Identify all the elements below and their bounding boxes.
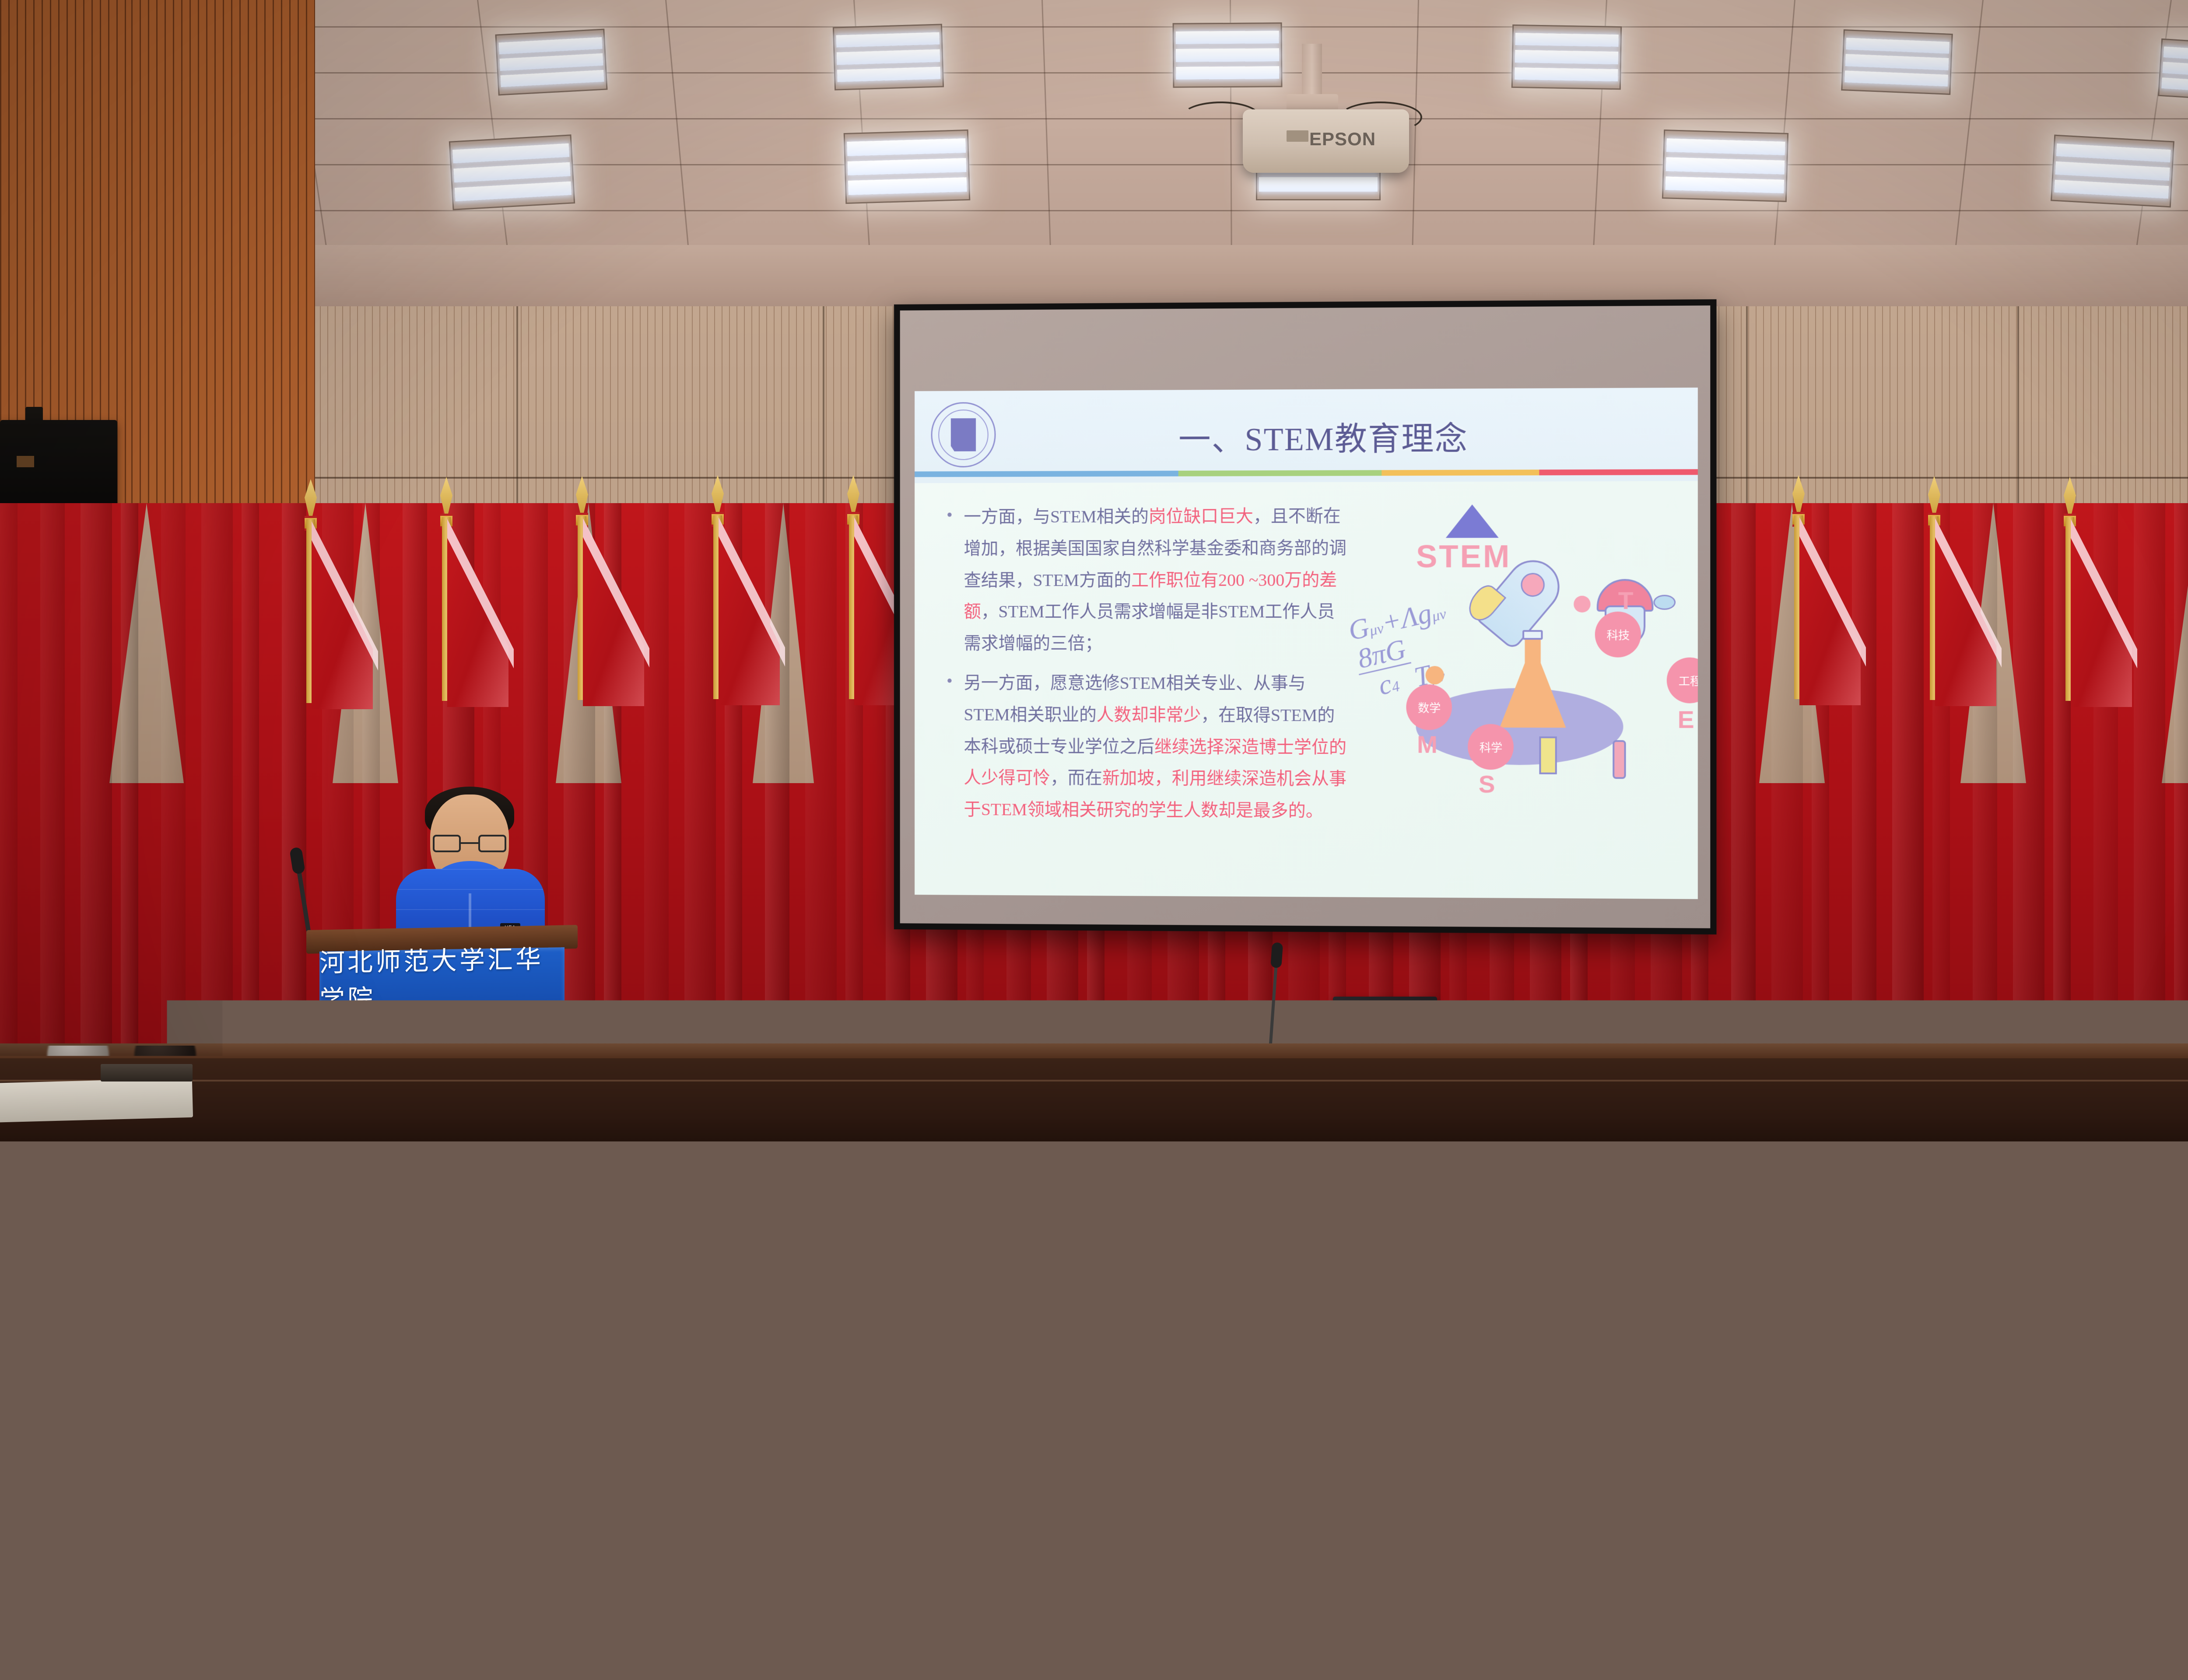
screen-surface: 一、STEM教育理念 一方面，与STEM相关的岗位缺口巨大，且不断在增加，根据美… <box>900 305 1711 928</box>
pillar-label-science: 科学 <box>1480 738 1502 755</box>
bullet-text: ，STEM工作人员需求增幅是非STEM工作人员需求增幅的三倍； <box>964 602 1335 653</box>
audience-member <box>1627 1090 1696 1162</box>
slide-bullet: 另一方面，愿意选修STEM相关专业、从事与STEM相关职业的人数却非常少，在取得… <box>940 667 1350 827</box>
stem-illustration: STEM Gμν+Λgμν 8πGc4Tμν 科技 <box>1350 481 1697 899</box>
ceiling <box>0 0 2188 271</box>
audience-member <box>1281 1487 1397 1609</box>
pillar-letter-engineering: E <box>1678 705 1694 734</box>
ceremonial-flag <box>442 477 521 713</box>
slide-bullet-list: 一方面，与STEM相关的岗位缺口巨大，且不断在增加，根据美国国家自然科学基金委和… <box>915 482 1350 897</box>
audience-member <box>981 1361 1081 1466</box>
audience-member <box>798 1046 860 1088</box>
audience-member <box>1874 1361 1974 1466</box>
pillar-letter-science: S <box>1479 770 1495 798</box>
audience-member <box>490 1255 577 1347</box>
pillar-label-engineering: 工程 <box>1679 672 1698 688</box>
curtain-fold <box>1892 503 1924 1085</box>
audience-member <box>691 1090 759 1162</box>
audience-member <box>1133 1361 1232 1466</box>
ceremonial-flag <box>713 475 792 711</box>
flask-neck <box>1522 630 1543 640</box>
audience-member <box>622 1255 709 1347</box>
pillar-label-tech: 科技 <box>1606 626 1630 643</box>
audience-member <box>762 1487 878 1609</box>
audience-member <box>1830 1046 1892 1088</box>
audience-member <box>224 1255 311 1347</box>
podium-name-chinese: 河北师范大学汇华学院 <box>319 938 565 1016</box>
ceremonial-flag <box>1930 476 2009 712</box>
audience-member <box>1931 1255 2018 1347</box>
glasses-icon <box>433 835 506 852</box>
audience-member <box>40 1166 117 1247</box>
auditorium-seat[interactable] <box>360 1436 498 1587</box>
ceiling-grid-line <box>0 164 2188 165</box>
ceiling-light-panel <box>495 28 607 95</box>
curtain-fold <box>2013 503 2044 1085</box>
podium-nameplate: 河北师范大学汇华学院 HUIHUA COLLEGE OF HEBEI NORMA… <box>319 947 565 1035</box>
rule-segment <box>915 471 1178 477</box>
audience-member <box>628 1166 705 1247</box>
pillar-circle-science: 科学 <box>1468 724 1514 770</box>
decorative-dot <box>1654 595 1676 610</box>
ceiling-light-panel <box>844 129 971 204</box>
ceremonial-flag <box>578 476 656 712</box>
slide-bullet: 一方面，与STEM相关的岗位缺口巨大，且不断在增加，根据美国国家自然科学基金委和… <box>940 500 1350 660</box>
stem-triangle-icon <box>1446 504 1499 538</box>
audience-member <box>1735 1090 1803 1162</box>
ceiling-light-panel <box>833 24 944 90</box>
bullet-text: 一方面，与STEM相关的 <box>964 507 1148 527</box>
flag-spear-tip <box>2064 477 2076 517</box>
ceiling-light-panel <box>1841 29 1953 95</box>
pillar-circle-engineering: 工程 <box>1667 658 1698 703</box>
audience-member <box>1323 1090 1392 1162</box>
curtain-fold <box>1731 503 1756 1085</box>
ceiling-light-panel <box>2051 135 2174 208</box>
audience-member <box>587 1090 656 1162</box>
projection-screen: 一、STEM教育理念 一方面，与STEM相关的岗位缺口巨大，且不断在增加，根据美… <box>894 299 1717 934</box>
audience-member <box>796 1090 865 1162</box>
ceiling-grid-line <box>0 210 2188 211</box>
ceiling-grid-line <box>665 0 691 270</box>
bullet-highlight: 岗位缺口巨大 <box>1149 506 1253 526</box>
speaker-bracket <box>25 407 43 422</box>
audience-member <box>416 1046 477 1088</box>
audience-member <box>2014 1166 2091 1247</box>
audience-area <box>0 1046 2188 1680</box>
hammer-icon <box>1539 736 1557 774</box>
audience-member <box>1544 1046 1606 1088</box>
audience-member <box>1211 1090 1280 1162</box>
ceiling-grid-line <box>1953 0 1984 269</box>
flag-spear-tip <box>576 476 588 516</box>
bullet-highlight: 人数却非常少 <box>1097 705 1201 724</box>
audience-member <box>1142 1255 1229 1347</box>
slide-color-rule <box>915 469 1698 477</box>
bullet-text: ，而在 <box>1050 768 1102 788</box>
laptop-brand-label: lenovo <box>1343 1009 1367 1018</box>
audience-member <box>2144 1487 2188 1609</box>
einstein-field-equation: Gμν+Λgμν 8πGc4Tμν <box>1346 595 1462 704</box>
flag-spear-tip <box>440 477 452 517</box>
ceiling-grid-line <box>0 118 2188 119</box>
audience-member <box>1412 1255 1499 1347</box>
curtain-fold <box>805 503 837 1085</box>
rule-segment <box>1382 469 1539 476</box>
audience-member <box>1424 1090 1493 1162</box>
audience-member <box>1114 1090 1183 1162</box>
slide-body: 一方面，与STEM相关的岗位缺口巨大，且不断在增加，根据美国国家自然科学基金委和… <box>915 481 1698 899</box>
curtain-fold <box>2174 503 2188 1085</box>
rule-segment <box>1178 470 1382 476</box>
audience-member <box>680 1361 779 1466</box>
curtain-fold <box>684 503 716 1085</box>
projector-brand-label: EPSON <box>1309 129 1376 150</box>
audience-member <box>879 1255 966 1347</box>
audience-member <box>235 1361 335 1466</box>
audience-member <box>70 1090 139 1162</box>
ceremonial-flag <box>1794 475 1873 711</box>
ceiling-grid-line <box>1041 0 1052 271</box>
presentation-slide: 一、STEM教育理念 一方面，与STEM相关的岗位缺口巨大，且不断在增加，根据美… <box>915 388 1698 899</box>
ceiling-light-panel <box>1173 22 1283 88</box>
flag-spear-tip <box>1792 475 1805 515</box>
audience-member <box>2021 1361 2121 1466</box>
audience-member <box>488 1090 557 1162</box>
audience-member <box>1020 1255 1107 1347</box>
audience-member <box>509 1046 571 1088</box>
ceremonial-flag <box>306 479 385 715</box>
curtain-fold <box>242 503 259 1085</box>
audience-member <box>1434 1166 1511 1247</box>
pillar-letter-tech: T <box>1618 586 1634 615</box>
flag-spear-tip <box>712 475 724 515</box>
projector-logo-block <box>1287 130 1308 142</box>
curtain-fold <box>282 503 306 1085</box>
flag-spear-tip <box>1928 476 1940 516</box>
decorative-dot <box>1574 596 1591 612</box>
epson-projector: EPSON <box>1243 109 1409 173</box>
auditorium-seat[interactable] <box>0 1436 49 1587</box>
audience-member <box>824 1361 924 1466</box>
wall-speaker-icon <box>0 420 117 507</box>
audience-member <box>279 1166 356 1247</box>
audience-member <box>1422 1361 1522 1466</box>
flag-spear-tip <box>847 475 859 515</box>
ceiling-light-panel <box>2158 38 2188 102</box>
audience-member <box>1273 1361 1372 1466</box>
audience-member <box>241 1487 357 1609</box>
curtain-fold <box>161 503 186 1085</box>
audience-member <box>134 1046 196 1088</box>
pillar-letter-math: M <box>1417 730 1438 759</box>
audience-member <box>92 1255 179 1347</box>
pillar-label-math: 数学 <box>1418 699 1441 715</box>
curtain-fold <box>81 503 112 1085</box>
curtain-fold <box>40 503 65 1085</box>
ceiling-light-panel <box>449 134 575 210</box>
audience-member <box>931 1487 1046 1609</box>
audience-member <box>753 1255 840 1347</box>
audience-member <box>1523 1090 1592 1162</box>
audience-member <box>361 1255 448 1347</box>
ceiling-light-panel <box>1511 24 1622 90</box>
audience-member <box>2066 1255 2153 1347</box>
slide-title: 一、STEM教育理念 <box>915 411 1698 461</box>
ceremonial-flag <box>2065 477 2144 713</box>
curtain-fold <box>121 503 138 1085</box>
audience-member <box>75 1361 175 1466</box>
flag-spear-tip <box>305 479 317 519</box>
projector-mount-pole <box>1302 44 1322 101</box>
audience-member <box>161 1166 238 1247</box>
audience-member <box>394 1166 471 1247</box>
audience-member <box>535 1361 635 1466</box>
ceiling-grid-line <box>1411 0 1419 271</box>
ceiling-grid-line <box>0 26 2188 28</box>
audience-member <box>1804 1255 1891 1347</box>
audience-member <box>852 1166 929 1247</box>
wrench-icon <box>1613 740 1626 779</box>
rule-segment <box>1539 469 1697 475</box>
curtain-fold <box>201 503 233 1085</box>
curtain-fold <box>0 503 18 1085</box>
audience-member <box>1901 1166 1978 1247</box>
audience-member <box>1670 1255 1757 1347</box>
bullet-highlight: 新加坡 <box>1102 768 1154 788</box>
audience-member <box>383 1090 452 1162</box>
pillar-circle-tech: 科技 <box>1595 612 1641 658</box>
audience-member <box>273 1090 341 1162</box>
pillar-circle-math: 数学 <box>1406 684 1452 730</box>
flask-icon <box>1500 635 1566 728</box>
slide-header: 一、STEM教育理念 <box>915 388 1698 483</box>
audience-member <box>1581 1361 1680 1466</box>
audience-member <box>742 1166 819 1247</box>
lecture-hall-photo: EPSON 一、STEM教育理念 一方面，与STEM相关的岗位缺口巨大，且不断在… <box>0 0 2188 1680</box>
audience-member <box>1281 1255 1368 1347</box>
ceiling-light-panel <box>1662 129 1788 202</box>
stem-acronym-label: STEM <box>1416 539 1511 575</box>
